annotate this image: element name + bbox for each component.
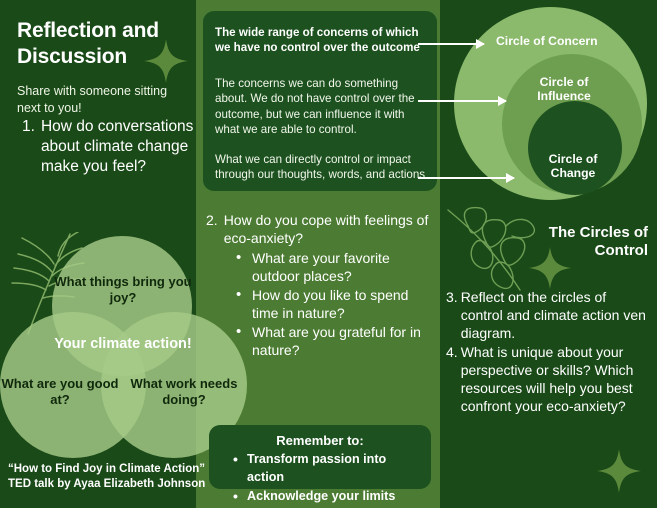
arrow-to-influence-icon [418, 100, 506, 102]
remember-heading: Remember to: [219, 433, 421, 448]
circle-of-influence-label: Circle of Influence [516, 75, 612, 104]
credit-source: TED talk by Ayaa Elizabeth Johnson [8, 477, 208, 492]
questions-3-4: 3. Reflect on the circles of control and… [446, 288, 650, 415]
credit-block: “How to Find Joy in Climate Action” TED … [8, 462, 208, 492]
arrow-to-change-icon [418, 177, 514, 179]
venn-label-center: Your climate action! [54, 336, 192, 353]
circle-of-change-label: Circle of Change [528, 152, 618, 181]
question-3: 3. Reflect on the circles of control and… [446, 288, 650, 343]
sparkle-icon [596, 448, 642, 494]
description-influence: The concerns we can do something about. … [215, 76, 427, 137]
question-2-bullet-list: What are your favorite outdoor places? H… [206, 249, 432, 359]
venn-label-good-at: What are you good at? [0, 376, 122, 407]
descriptions-card: The wide range of concerns of which we h… [203, 11, 437, 191]
circle-of-change-ring [528, 101, 622, 195]
subtitle-text: Share with someone sitting next to you! [17, 83, 192, 117]
list-item: What are your favorite outdoor places? [236, 249, 432, 285]
description-concern: The wide range of concerns of which we h… [215, 25, 425, 56]
question-3-text: Reflect on the circles of control and cl… [461, 288, 650, 343]
list-item: What are you grateful for in nature? [236, 323, 432, 359]
venn-label-work: What work needs doing? [122, 376, 246, 407]
list-item: Transform passion into action [233, 450, 421, 487]
question-3-number: 3. [446, 288, 458, 343]
question-1: 1. How do conversations about climate ch… [22, 117, 198, 176]
credit-title: “How to Find Joy in Climate Action” [8, 462, 208, 477]
question-4: 4. What is unique about your perspective… [446, 343, 650, 416]
slide-canvas: Reflection and Discussion Share with som… [0, 0, 657, 508]
remember-bullet-list: Transform passion into action Acknowledg… [219, 450, 421, 505]
arrow-to-concern-icon [418, 43, 484, 45]
remember-card: Remember to: Transform passion into acti… [209, 425, 431, 489]
question-2-number: 2. [206, 211, 218, 247]
question-1-text: How do conversations about climate chang… [41, 117, 198, 176]
section-title: The Circles of Control [504, 224, 648, 260]
question-2-text: How do you cope with feelings of eco-anx… [224, 211, 432, 247]
description-change: What we can directly control or impact t… [215, 152, 431, 183]
venn-label-joy: What things bring you joy? [52, 274, 194, 305]
list-item: Acknowledge your limits [233, 487, 421, 505]
question-4-number: 4. [446, 343, 458, 416]
question-4-text: What is unique about your perspective or… [461, 343, 650, 416]
page-title: Reflection and Discussion [17, 18, 177, 69]
question-1-number: 1. [22, 117, 35, 176]
list-item: How do you like to spend time in nature? [236, 286, 432, 322]
question-2: 2. How do you cope with feelings of eco-… [206, 211, 432, 360]
circle-of-concern-label: Circle of Concern [496, 34, 646, 48]
